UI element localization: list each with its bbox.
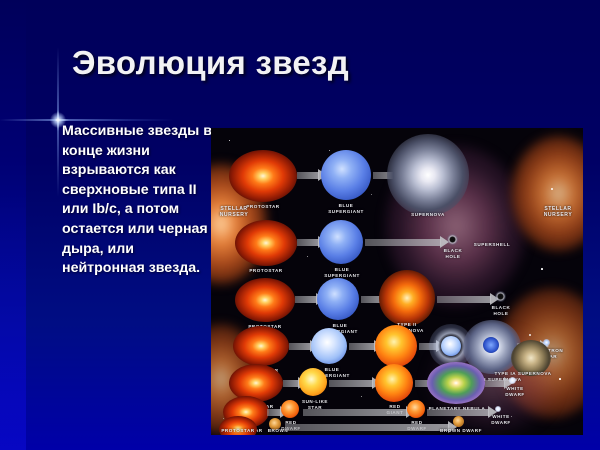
object-red-dwarf-1 <box>281 400 299 418</box>
object-white-dwarf-2 <box>495 406 501 412</box>
object-black-hole-1 <box>447 234 458 245</box>
arrow-row7-a <box>285 424 449 431</box>
slide-title: Эволюция звезд <box>72 44 552 82</box>
label-black-hole-2: BLACK HOLE <box>481 305 521 316</box>
arrow-row5-a <box>283 380 299 387</box>
arrow-row4-b <box>349 343 375 350</box>
object-sun-like-star <box>299 368 327 396</box>
arrow-row3-c <box>437 296 491 303</box>
sparkle-vertical-ray <box>57 47 59 197</box>
object-blue-supergiant-3 <box>317 278 359 320</box>
object-blue-supergiant-1 <box>321 150 371 200</box>
object-protostar-4 <box>233 326 289 366</box>
object-red-giant-1 <box>375 325 417 367</box>
object-white-dwarf-1 <box>509 377 516 384</box>
object-type-ii-supernova-row3 <box>379 270 435 326</box>
stellar-evolution-image: PROTOSTAR BLUE SUPERGIANT SUPERNOVA STEL… <box>211 128 583 435</box>
label-supershell: SUPERSHELL <box>461 242 523 248</box>
arrow-row1-a <box>297 172 319 179</box>
presentation-slide: Эволюция звезд Массивные звезды в конце … <box>0 0 600 450</box>
left-accent-band <box>0 0 26 450</box>
object-protostar-2 <box>235 220 297 266</box>
arrow-row2-a <box>297 239 319 246</box>
slide-body-text: Массивные звезды в конце жизни взрываютс… <box>62 122 212 279</box>
label-protostar-7: PROTOSTAR <box>215 428 261 434</box>
arrow-row6-a <box>267 409 281 416</box>
object-red-dwarf-2 <box>407 400 425 418</box>
label-black-hole-1: BLACK HOLE <box>433 248 473 259</box>
label-supernova: SUPERNOVA <box>393 212 463 218</box>
object-supernova <box>387 134 469 216</box>
label-blue-supergiant-1: BLUE SUPERGIANT <box>321 203 371 214</box>
label-brown-dwarf-2: BROWN DWARF <box>433 428 489 434</box>
sparkle-horizontal-ray <box>0 119 174 121</box>
object-protostar-1 <box>229 150 297 202</box>
arrow-row6-b <box>303 409 407 416</box>
object-brown-dwarf-2 <box>453 416 464 427</box>
object-blue-giant <box>441 336 461 356</box>
label-stellar-nursery-left: STELLAR NURSERY <box>211 206 259 218</box>
arrow-row4-a <box>289 343 311 350</box>
object-sn-core <box>483 337 499 353</box>
object-black-hole-2 <box>495 291 506 302</box>
arrow-row5-b <box>329 380 373 387</box>
object-blue-supergiant-2 <box>319 220 363 264</box>
label-white-dwarf-2: WHITE DWARF <box>483 414 519 425</box>
arrow-row6-c <box>427 409 489 416</box>
label-blue-supergiant-2: BLUE SUPERGIANT <box>317 267 367 278</box>
label-white-dwarf-1: WHITE DWARF <box>497 386 533 397</box>
object-blue-supergiant-4 <box>311 328 347 364</box>
object-planetary-nebula <box>427 362 485 404</box>
label-stellar-nursery-right: STELLAR NURSERY <box>533 206 583 218</box>
arrow-row2-b <box>365 239 441 246</box>
nebula-glow-top-right <box>511 136 583 251</box>
arrow-row3-a <box>295 296 317 303</box>
object-red-giant-2 <box>375 364 413 402</box>
label-type-ia-supernova: TYPE IA SUPERNOVA <box>483 371 563 377</box>
object-protostar-3 <box>235 278 295 322</box>
label-protostar-2: PROTOSTAR <box>235 268 297 274</box>
